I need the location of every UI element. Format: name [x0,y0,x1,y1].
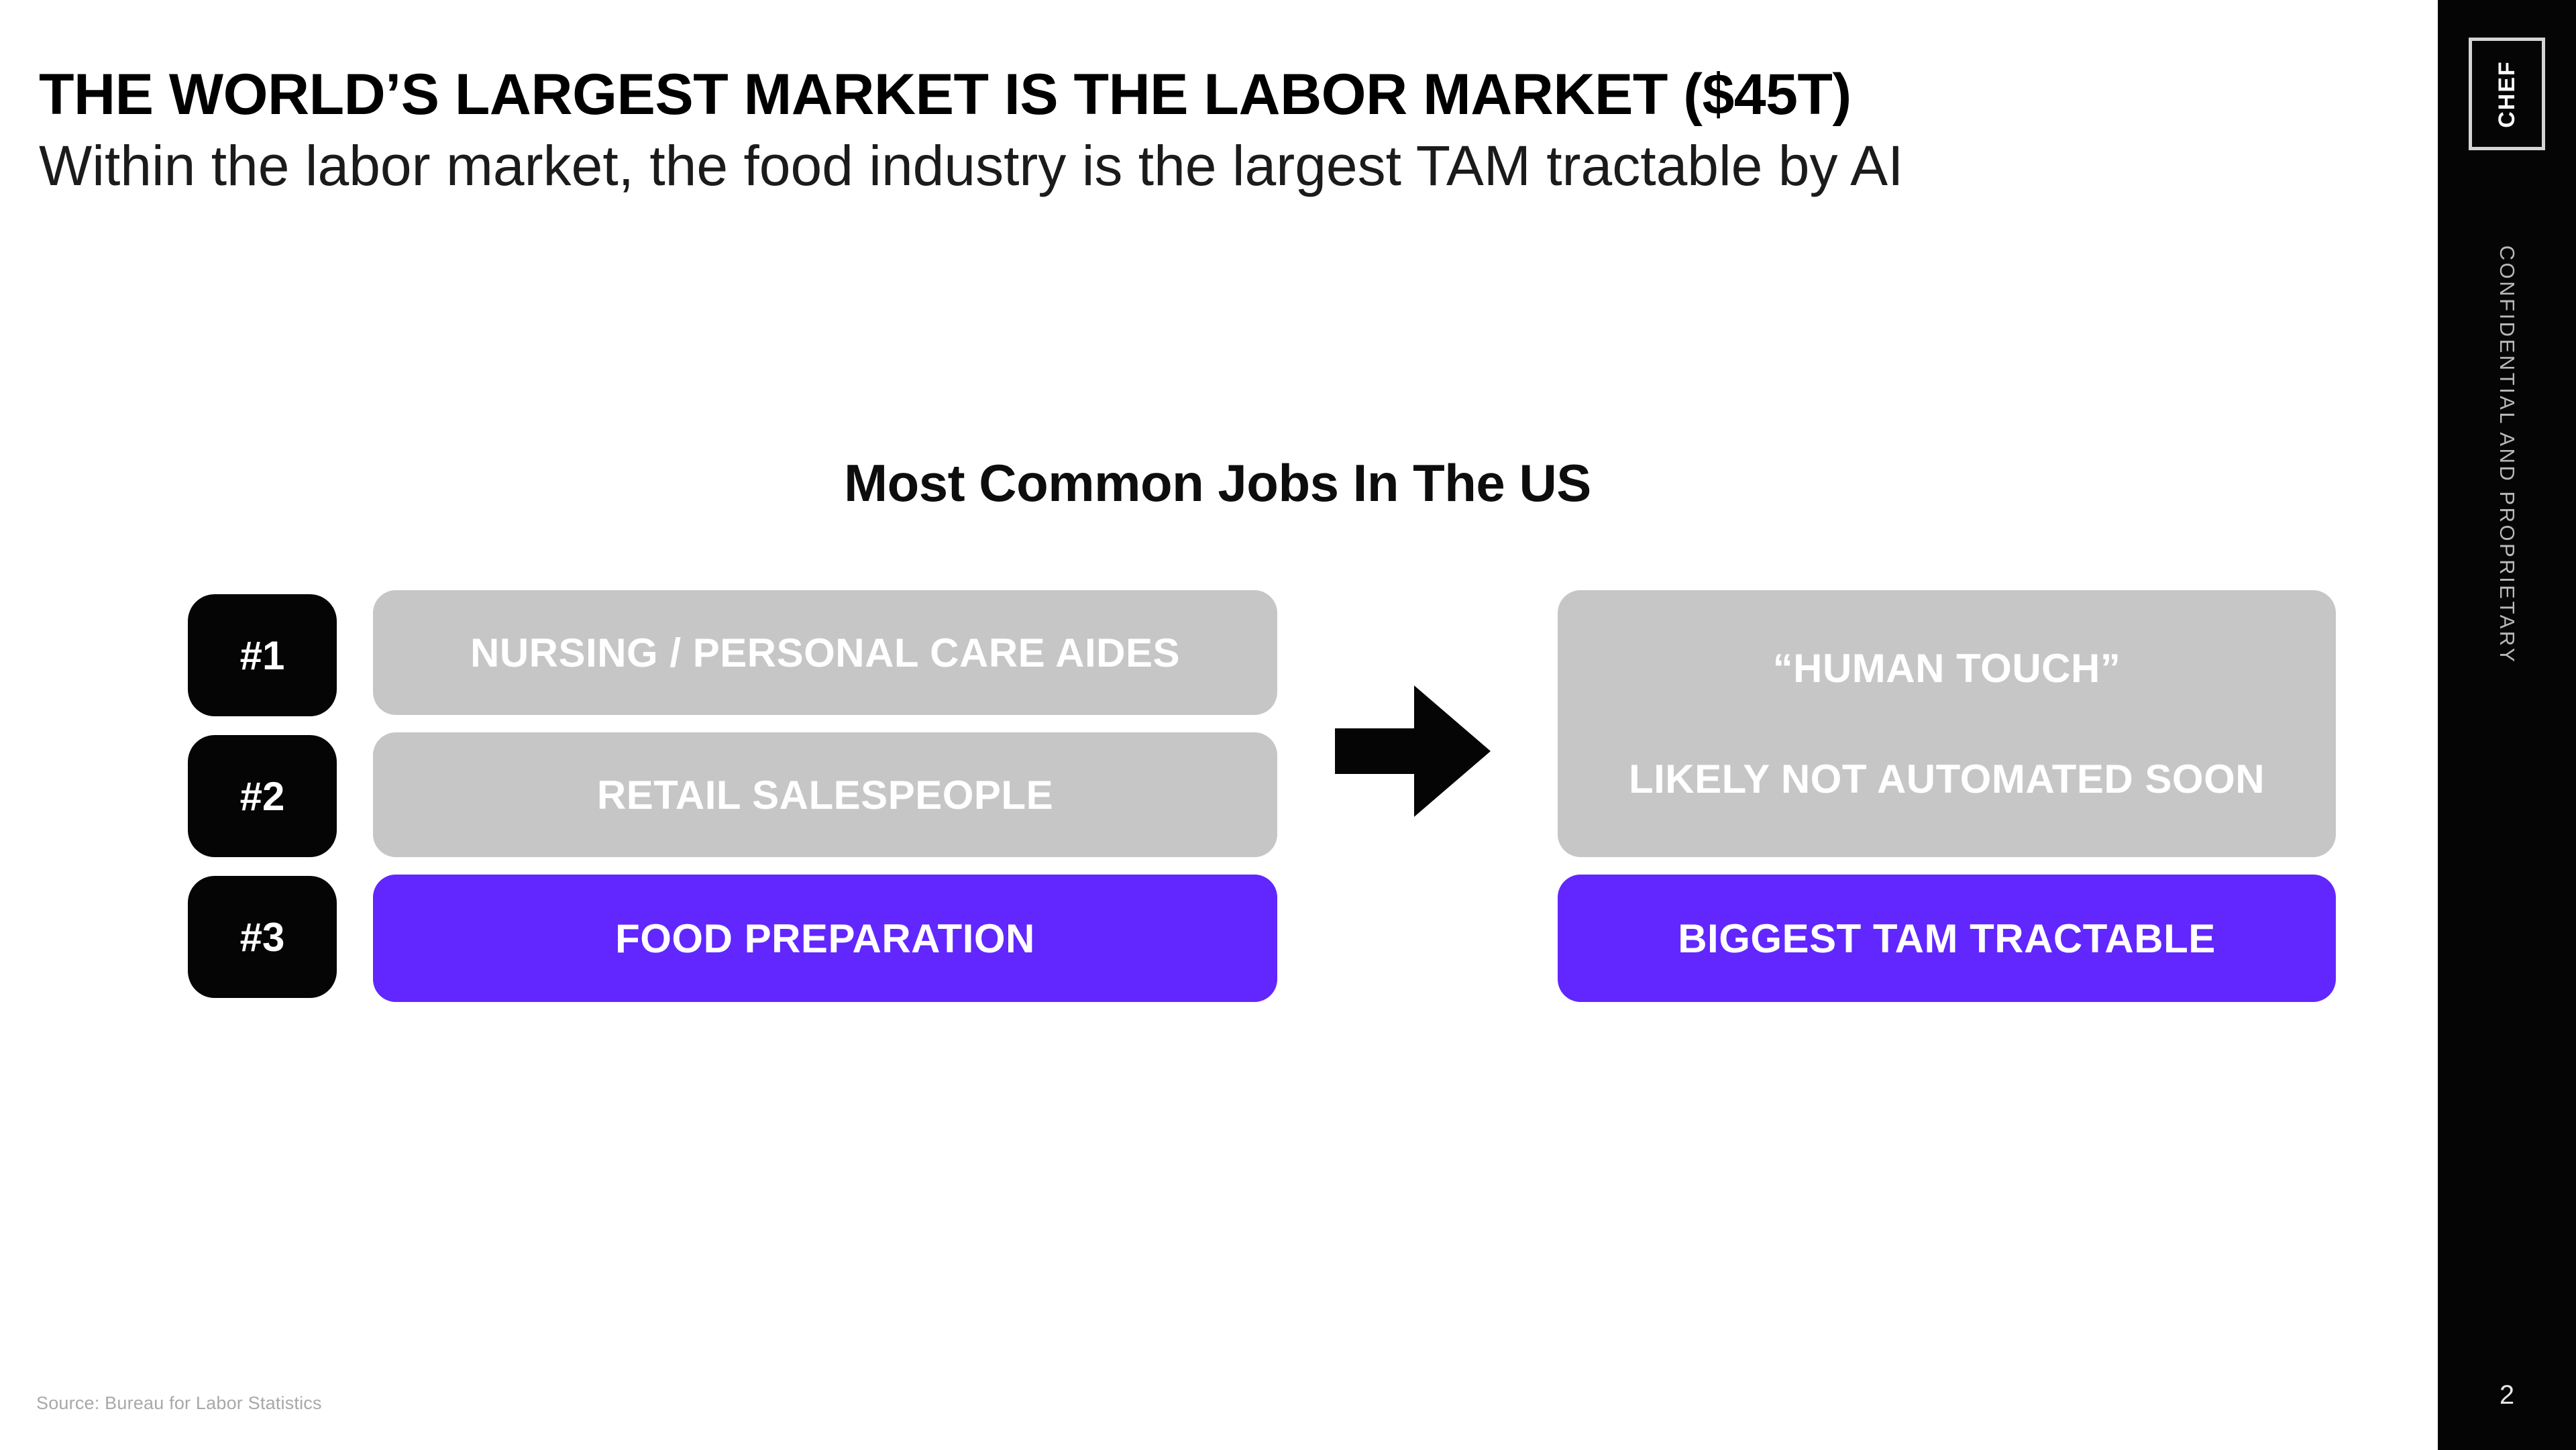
source-note: Source: Bureau for Labor Statistics [36,1393,322,1414]
conclusion-line-not-automated: LIKELY NOT AUTOMATED SOON [1629,756,2265,802]
rank-badge-1: #1 [188,594,337,716]
slide-header: THE WORLD’S LARGEST MARKET IS THE LABOR … [39,66,2400,196]
rank-badge-2: #2 [188,735,337,857]
page-title: THE WORLD’S LARGEST MARKET IS THE LABOR … [39,66,2400,125]
page-subtitle: Within the labor market, the food indust… [39,135,2400,197]
confidentiality-notice: CONFIDENTIAL AND PROPRIETARY [2495,245,2519,665]
slide-canvas: THE WORLD’S LARGEST MARKET IS THE LABOR … [0,0,2576,1450]
job-bar-retail: RETAIL SALESPEOPLE [373,732,1277,857]
job-bar-nursing: NURSING / PERSONAL CARE AIDES [373,590,1277,715]
section-heading: Most Common Jobs In The US [0,453,2435,514]
conclusion-box-human-touch: “HUMAN TOUCH” LIKELY NOT AUTOMATED SOON [1558,590,2336,857]
page-number: 2 [2500,1380,2514,1410]
conclusion-line-human-touch: “HUMAN TOUCH” [1773,645,2121,691]
arrow-right-icon [1335,684,1491,818]
brand-sidebar: CHEF CONFIDENTIAL AND PROPRIETARY 2 [2438,0,2576,1450]
chef-logo-text: CHEF [2494,60,2520,128]
conclusion-box-biggest-tam: BIGGEST TAM TRACTABLE [1558,875,2336,1002]
conclusion-column: “HUMAN TOUCH” LIKELY NOT AUTOMATED SOON … [1558,590,2336,1019]
rank-badge-3: #3 [188,876,337,998]
chef-logo: CHEF [2469,38,2545,150]
job-bar-food-preparation: FOOD PREPARATION [373,875,1277,1002]
